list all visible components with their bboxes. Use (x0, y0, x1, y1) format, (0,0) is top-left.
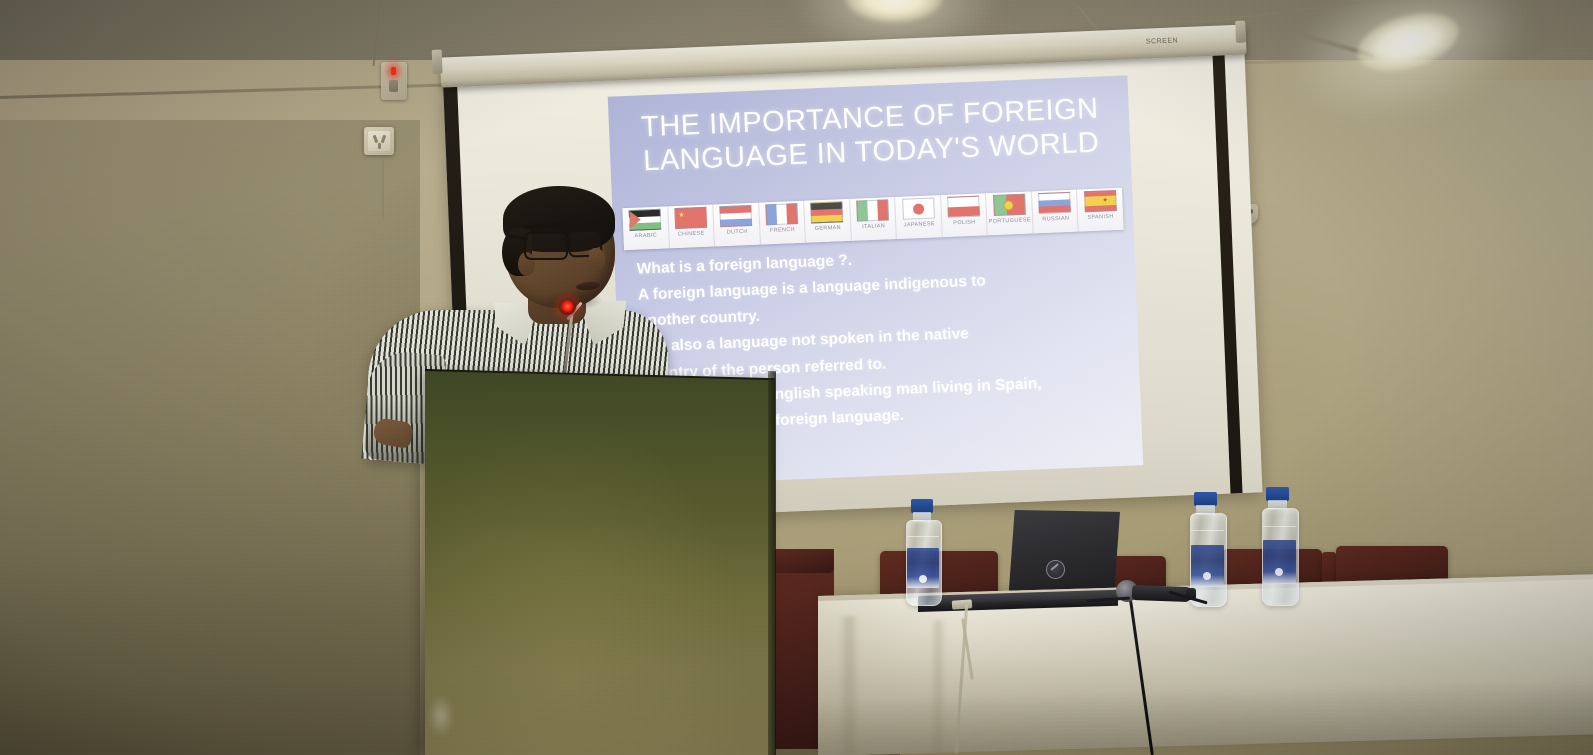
flag-label: ITALIAN (862, 223, 885, 230)
power-led-icon (391, 67, 396, 75)
flag-german-icon (811, 201, 844, 223)
flag-item: JAPANESE (895, 195, 942, 239)
microphone-led-icon (562, 301, 573, 312)
flag-arabic-icon (629, 209, 662, 231)
bottle-rib (907, 536, 939, 537)
flag-item: PORTUGUESE (986, 191, 1033, 235)
bottle-label-mark-icon (1275, 568, 1283, 576)
flag-italian-icon (856, 199, 889, 221)
flag-label: PORTUGUESE (989, 217, 1031, 225)
bottle-label-mark-icon (1203, 572, 1211, 580)
flag-label: ARABIC (634, 232, 657, 239)
flag-item: ARABIC (622, 206, 669, 250)
flag-label: JAPANESE (903, 220, 934, 227)
flag-japanese-icon (902, 197, 935, 219)
eyeglasses-icon (524, 232, 568, 260)
flag-chinese-icon: ★ (674, 207, 707, 229)
screen-control-button[interactable] (389, 80, 398, 92)
flag-item: ✦ SPANISH (1077, 188, 1123, 232)
conference-photo-scene: THE IMPORTANCE OF FOREIGN LANGUAGE IN TO… (0, 0, 1593, 755)
flag-portuguese-icon (993, 194, 1026, 216)
bottle-label (1191, 545, 1224, 587)
flag-item: RUSSIAN (1032, 190, 1079, 234)
flag-label: SPANISH (1088, 213, 1114, 220)
flag-item: DUTCH (713, 203, 760, 247)
flag-label: CHINESE (678, 230, 705, 237)
lectern-highlight (425, 371, 775, 755)
bottle-cap (1266, 487, 1289, 501)
speaker-nose (589, 248, 605, 270)
eyeglasses-bridge (562, 238, 571, 240)
bottle-rib (1263, 526, 1296, 527)
flag-spanish-icon: ✦ (1084, 190, 1117, 212)
flag-french-icon (765, 203, 798, 225)
flag-dutch-icon (720, 205, 753, 227)
socket-slot-icon (378, 143, 381, 149)
roller-brand-label: SCREEN (1146, 37, 1178, 45)
flag-russian-icon (1038, 192, 1071, 214)
flag-label: FRENCH (770, 226, 795, 233)
bottle-cap (1194, 492, 1217, 506)
lectern-scuff (428, 695, 454, 737)
flag-label: DUTCH (726, 228, 747, 235)
flag-label: POLISH (953, 219, 976, 226)
bottle-label (1263, 540, 1296, 584)
bottle-label-mark-icon (919, 575, 927, 583)
flag-label: GERMAN (814, 224, 841, 231)
laptop-logo-icon (1046, 560, 1065, 579)
flag-label: RUSSIAN (1042, 215, 1069, 222)
roller-bracket-icon (1235, 21, 1246, 43)
socket-wire (382, 160, 384, 218)
bottle-rib (1191, 530, 1224, 531)
flag-polish-icon (947, 196, 980, 218)
flag-item: ITALIAN (850, 197, 897, 241)
cable-plug (952, 599, 973, 609)
lectern-right-edge (768, 371, 776, 755)
bottle-cap (911, 499, 933, 513)
flag-item: POLISH (941, 193, 988, 237)
flag-item: GERMAN (804, 199, 851, 243)
roller-bracket-icon (432, 50, 443, 74)
flag-item: ★ CHINESE (668, 205, 715, 249)
flag-item: FRENCH (759, 201, 806, 245)
